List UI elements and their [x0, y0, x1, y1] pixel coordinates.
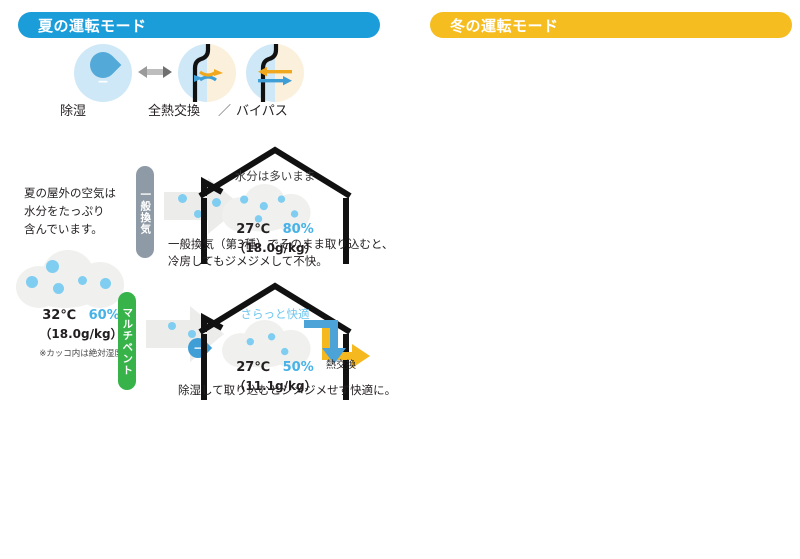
indoor-temp: 27℃ [236, 222, 270, 237]
summer-header-bar: 夏の運転モード [18, 12, 380, 38]
hx-duct-arrows-icon [178, 44, 236, 102]
indoor-temp: 27℃ [236, 360, 270, 375]
dehumidify-icon: − [74, 44, 132, 102]
winter-panel: 冬の運転モード + [400, 0, 800, 406]
summer-general-ventilation-badge: 一般換気 [136, 166, 154, 258]
summer-outside-description: 夏の屋外の空気は 水分をたっぷり 含んでいます。 [24, 185, 116, 238]
summer-multivent-badge: マルチベント [118, 292, 136, 390]
badge-label: マルチベント [122, 307, 133, 376]
minus-sign-icon: − [97, 75, 109, 89]
summer-outdoor-cloud [16, 250, 124, 308]
summer-caption-bottom: 除湿して取り込むとジメジメせず快適に。 [178, 382, 396, 399]
summer-panel: 夏の運転モード − [0, 0, 400, 406]
badge-label: 一般換気 [140, 189, 151, 235]
total-heat-exchange-icon [178, 44, 236, 102]
outdoor-temp: 32℃ [42, 308, 76, 323]
winter-header-label: 冬の運転モード [450, 15, 559, 36]
mode-label-bypass: バイパス [236, 100, 288, 119]
summer-mode-labels: 除湿 全熱交換 ／ バイパス [50, 100, 370, 118]
bypass-icon [246, 44, 304, 102]
winter-header-bar: 冬の運転モード [430, 12, 792, 38]
mode-label-dehumidify: 除湿 [60, 100, 86, 119]
summer-header-label: 夏の運転モード [38, 15, 147, 36]
swap-arrows-icon [138, 64, 172, 80]
summer-heat-exchange-label: 熱交換 [326, 356, 356, 371]
outdoor-humidity: 60% [89, 308, 120, 323]
summer-caption-top: 一般換気（第3種）でそのまま取り込むと、 冷房してもジメジメして不快。 [168, 236, 393, 271]
bypass-duct-arrows-icon [246, 44, 304, 102]
house-top-caption: 水分は多いまま [196, 168, 354, 184]
mode-label-heat-exchange: 全熱交換 [148, 100, 200, 119]
mode-label-slash: ／ [218, 100, 231, 119]
indoor-humidity: 80% [283, 222, 314, 237]
